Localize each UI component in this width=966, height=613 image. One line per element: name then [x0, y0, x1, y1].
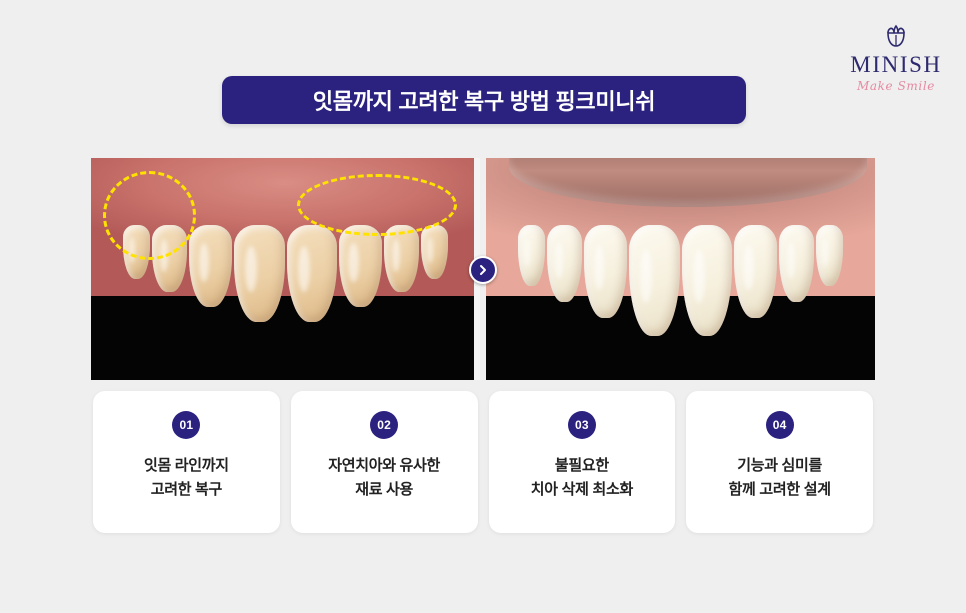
gum-recession-annotation-left: [103, 171, 196, 260]
card-text-line2: 함께 고려한 설계: [729, 478, 831, 502]
before-photo-content: [91, 158, 480, 380]
feature-card-01[interactable]: 01 잇몸 라인까지 고려한 복구: [93, 391, 280, 533]
card-number-badge: 03: [568, 411, 596, 439]
brand-tagline: Make Smile: [840, 80, 952, 92]
card-text: 기능과 심미를 함께 고려한 설계: [729, 454, 831, 503]
card-number-badge: 04: [766, 411, 794, 439]
card-text: 불필요한 치아 삭제 최소화: [531, 454, 633, 503]
after-photo[interactable]: [486, 158, 875, 380]
feature-card-02[interactable]: 02 자연치아와 유사한 재료 사용: [291, 391, 478, 533]
feature-card-03[interactable]: 03 불필요한 치아 삭제 최소화: [489, 391, 676, 533]
after-photo-content: [486, 158, 875, 380]
page-root: MINISH Make Smile 잇몸까지 고려한 복구 방법 핑크미니쉬: [0, 0, 966, 613]
card-text: 자연치아와 유사한 재료 사용: [328, 454, 440, 503]
card-text-line2: 재료 사용: [328, 478, 440, 502]
next-slide-button[interactable]: [469, 256, 497, 284]
brand-wordmark: MINISH: [840, 53, 952, 76]
card-text-line2: 고려한 복구: [144, 478, 229, 502]
brand-logo: MINISH Make Smile: [840, 24, 952, 92]
tulip-flower-icon: [883, 24, 909, 50]
teeth-row-after: [486, 225, 875, 358]
card-text-line2: 치아 삭제 최소화: [531, 478, 633, 502]
card-text: 잇몸 라인까지 고려한 복구: [144, 454, 229, 503]
gum-recession-annotation-right: [297, 174, 456, 236]
feature-card-04[interactable]: 04 기능과 심미를 함께 고려한 설계: [686, 391, 873, 533]
chevron-right-icon: [477, 264, 489, 276]
card-number-badge: 02: [370, 411, 398, 439]
before-photo[interactable]: [91, 158, 480, 380]
page-title-banner: 잇몸까지 고려한 복구 방법 핑크미니쉬: [222, 76, 746, 124]
feature-card-list: 01 잇몸 라인까지 고려한 복구 02 자연치아와 유사한 재료 사용 03 …: [93, 391, 873, 533]
card-text-line1: 기능과 심미를: [729, 454, 831, 478]
card-number-badge: 01: [172, 411, 200, 439]
card-text-line1: 자연치아와 유사한: [328, 454, 440, 478]
card-text-line1: 불필요한: [531, 454, 633, 478]
page-title: 잇몸까지 고려한 복구 방법 핑크미니쉬: [313, 84, 655, 116]
card-text-line1: 잇몸 라인까지: [144, 454, 229, 478]
